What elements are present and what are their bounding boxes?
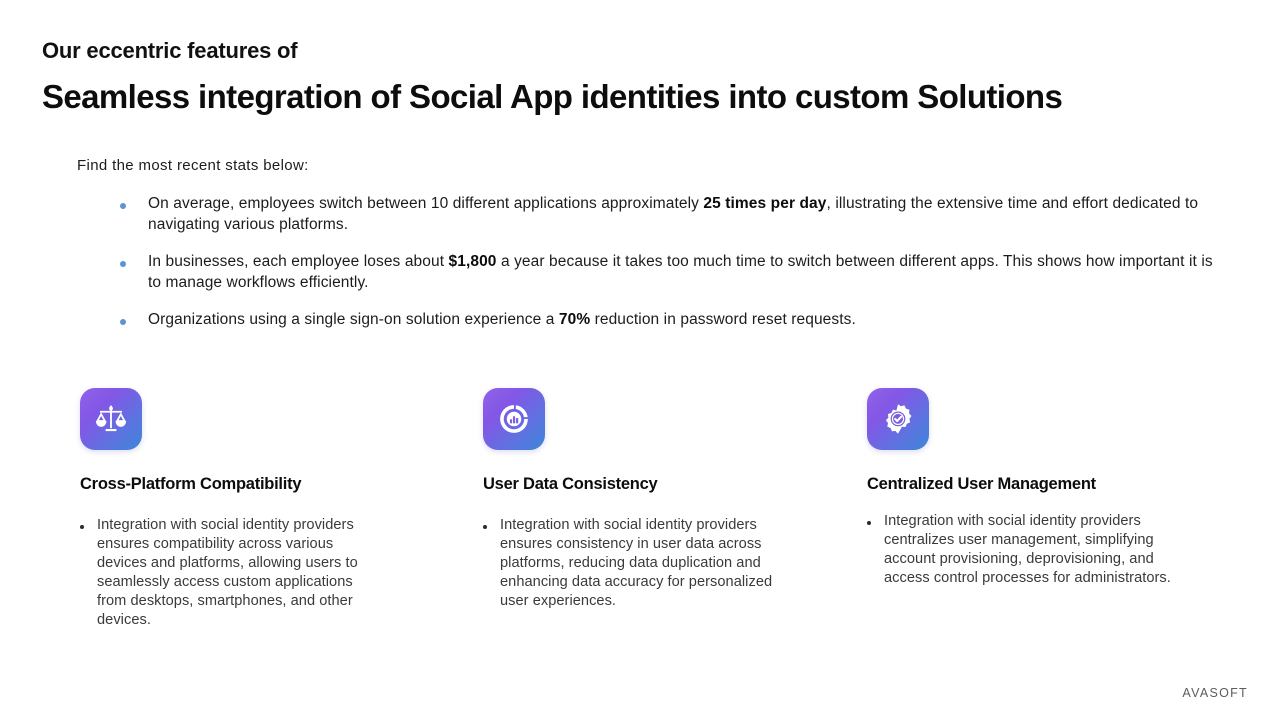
donut-chart-analytics-icon — [483, 388, 545, 450]
stat-text: On average, employees switch between 10 … — [148, 194, 1230, 235]
feature-title: User Data Consistency — [483, 475, 783, 494]
feature-columns: Cross-Platform Compatibility Integration… — [0, 388, 1280, 668]
bullet-dot-icon — [120, 261, 126, 267]
feature-title: Centralized User Management — [867, 475, 1187, 494]
bullet-dot-icon — [867, 521, 871, 525]
list-item: On average, employees switch between 10 … — [120, 194, 1230, 235]
feature-text: Integration with social identity provide… — [500, 516, 783, 611]
intro-text: Find the most recent stats below: — [77, 157, 309, 174]
page-title: Seamless integration of Social App ident… — [42, 78, 1062, 116]
stat-segment-bold: $1,800 — [449, 253, 497, 270]
list-item: Organizations using a single sign-on sol… — [120, 310, 1230, 331]
feature-card-cross-platform-compatibility: Cross-Platform Compatibility Integration… — [80, 388, 380, 630]
feature-text: Integration with social identity provide… — [97, 516, 380, 630]
stat-segment-bold: 25 times per day — [703, 195, 826, 212]
eyebrow-heading: Our eccentric features of — [42, 38, 297, 64]
brand-logo-text: AVASOFT — [1182, 686, 1248, 700]
feature-body: Integration with social identity provide… — [867, 512, 1187, 588]
stat-segment-bold: 70% — [559, 311, 590, 328]
stat-segment: Organizations using a single sign-on sol… — [148, 311, 559, 328]
feature-card-user-data-consistency: User Data Consistency Integration with s… — [483, 388, 783, 611]
feature-title: Cross-Platform Compatibility — [80, 475, 380, 494]
feature-body: Integration with social identity provide… — [483, 516, 783, 611]
bullet-dot-icon — [120, 319, 126, 325]
scales-balance-icon — [80, 388, 142, 450]
stat-text: Organizations using a single sign-on sol… — [148, 310, 856, 331]
list-item: In businesses, each employee loses about… — [120, 252, 1230, 293]
bullet-dot-icon — [80, 525, 84, 529]
stat-segment: On average, employees switch between 10 … — [148, 195, 703, 212]
stat-segment: reduction in password reset requests. — [590, 311, 856, 328]
feature-text: Integration with social identity provide… — [884, 512, 1187, 588]
stat-segment: In businesses, each employee loses about — [148, 253, 449, 270]
bullet-dot-icon — [483, 525, 487, 529]
feature-body: Integration with social identity provide… — [80, 516, 380, 630]
stat-text: In businesses, each employee loses about… — [148, 252, 1230, 293]
gear-check-icon — [867, 388, 929, 450]
bullet-dot-icon — [120, 203, 126, 209]
stats-list: On average, employees switch between 10 … — [120, 194, 1230, 348]
feature-card-centralized-user-management: Centralized User Management Integration … — [867, 388, 1187, 588]
